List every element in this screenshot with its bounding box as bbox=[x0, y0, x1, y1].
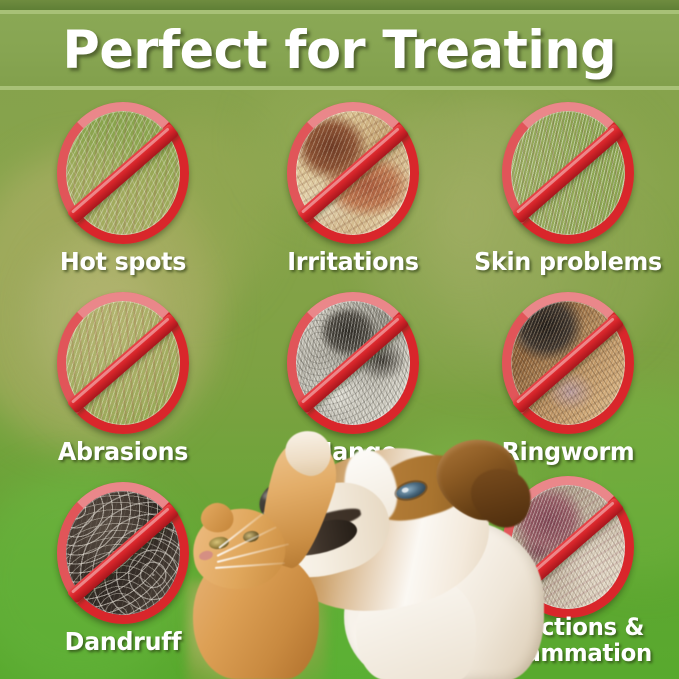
no-symbol-hot-spots[interactable] bbox=[57, 102, 189, 244]
no-symbol-dandruff[interactable] bbox=[57, 482, 189, 624]
pets-photo bbox=[193, 425, 553, 679]
no-symbol-skin-problems[interactable] bbox=[502, 102, 634, 244]
condition-label: Irritations bbox=[246, 248, 461, 275]
no-symbol-irritations[interactable] bbox=[287, 102, 419, 244]
no-symbol-abrasions[interactable] bbox=[57, 292, 189, 434]
condition-label: Hot spots bbox=[16, 248, 231, 275]
condition-item-skin-problems[interactable]: Skin problems bbox=[455, 98, 679, 288]
header-banner: Perfect for Treating bbox=[0, 10, 679, 90]
kitten-photo bbox=[193, 485, 343, 679]
condition-item-hot-spots[interactable]: Hot spots bbox=[10, 98, 236, 288]
no-symbol-ringworm[interactable] bbox=[502, 292, 634, 434]
condition-item-irritations[interactable]: Irritations bbox=[240, 98, 466, 288]
banner-top-strip bbox=[0, 0, 679, 10]
condition-label: Skin problems bbox=[461, 248, 676, 275]
page-title: Perfect for Treating bbox=[63, 20, 616, 81]
infographic-canvas: Perfect for Treating Hot spots bbox=[0, 0, 679, 679]
no-symbol-mange[interactable] bbox=[287, 292, 419, 434]
